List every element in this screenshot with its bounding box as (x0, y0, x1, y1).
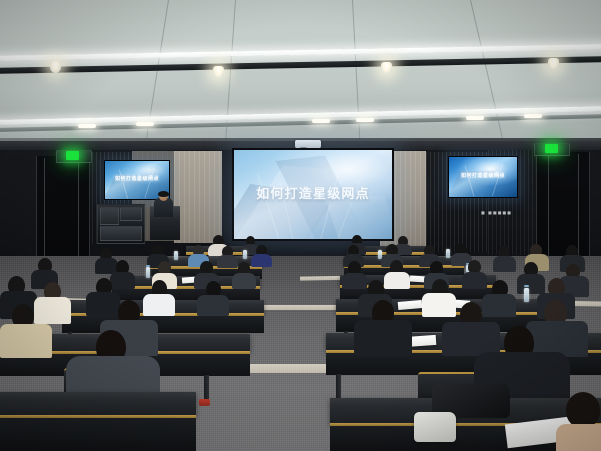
attendee-body (217, 255, 238, 268)
wall-caption-right: ■ ■■■■■ (481, 210, 512, 215)
door-frame-line (578, 154, 579, 256)
door-frame-line (44, 158, 45, 256)
attendee-body (86, 292, 120, 316)
attendee-body (442, 322, 500, 356)
attendee-body (517, 274, 545, 294)
doorway-right[interactable] (536, 152, 590, 256)
av-module (100, 207, 119, 225)
wall-slat-panel (174, 151, 222, 243)
desk-front (0, 418, 196, 451)
downlight (136, 122, 154, 126)
downlight (78, 124, 96, 128)
slide-title: 如何打造星级网点 (234, 183, 392, 202)
attendee-body (110, 272, 135, 289)
exit-sign-right (545, 144, 558, 153)
slide-subtitle: · · · · · · · · (234, 201, 392, 206)
desk-front (62, 316, 264, 333)
spotlight (548, 58, 559, 70)
attendee-body (384, 272, 410, 289)
exit-sign-left (66, 151, 79, 160)
attendee-body (354, 320, 412, 356)
water-bottle (174, 251, 178, 260)
attendee-body (34, 297, 71, 324)
attendee-body (422, 293, 456, 317)
water-bottle (146, 267, 150, 278)
ceiling-seam (225, 0, 236, 150)
attendee-body (251, 254, 272, 267)
slide-image: 如何打造星级网点 · · · · · · · · (234, 150, 392, 239)
slide-line (492, 164, 503, 197)
attendee-arm (556, 424, 601, 451)
attendee-body (232, 273, 256, 289)
slide-line (144, 168, 154, 199)
spotlight (381, 62, 392, 74)
monitor-slide-title-right: 如何打造星级网点 (449, 172, 517, 179)
downlight (312, 119, 330, 123)
conference-room-photo: 如何打造星级网点 · · · · · · · · 如何打造星级网点 如何打造星级… (0, 0, 601, 451)
downlight (356, 118, 374, 122)
door-frame-line (548, 154, 549, 256)
spotlight (50, 61, 61, 73)
main-projection-screen: 如何打造星级网点 · · · · · · · · (232, 148, 394, 241)
attendee-body (493, 256, 516, 272)
bottle-cap (524, 285, 529, 287)
attendee-body (482, 294, 516, 317)
attendee-head (566, 392, 600, 428)
water-bottle (524, 288, 529, 302)
water-bottle (446, 249, 450, 258)
side-monitor-right: 如何打造星级网点 (448, 156, 518, 198)
white-sneaker (414, 412, 456, 442)
attendee-body (342, 273, 367, 289)
attendee-body (0, 324, 52, 358)
av-module (100, 226, 142, 241)
spotlight (213, 66, 224, 78)
av-module (120, 207, 142, 221)
attendee-body (197, 295, 229, 316)
presenter-hair (158, 191, 169, 197)
monitor-slide-title-left: 如何打造星级网点 (105, 175, 169, 182)
door-frame-line (78, 158, 79, 256)
downlight (466, 116, 484, 120)
ceiling-seam (470, 0, 505, 146)
attendee-body (462, 272, 487, 289)
monitor-slide-right: 如何打造星级网点 (449, 157, 517, 197)
desk-foot (199, 399, 210, 406)
bottle-cap (146, 265, 150, 267)
attendee-body (143, 294, 175, 316)
ceiling-seam (352, 0, 361, 150)
water-bottle (243, 250, 247, 259)
desk (0, 392, 196, 416)
downlight (524, 114, 542, 118)
